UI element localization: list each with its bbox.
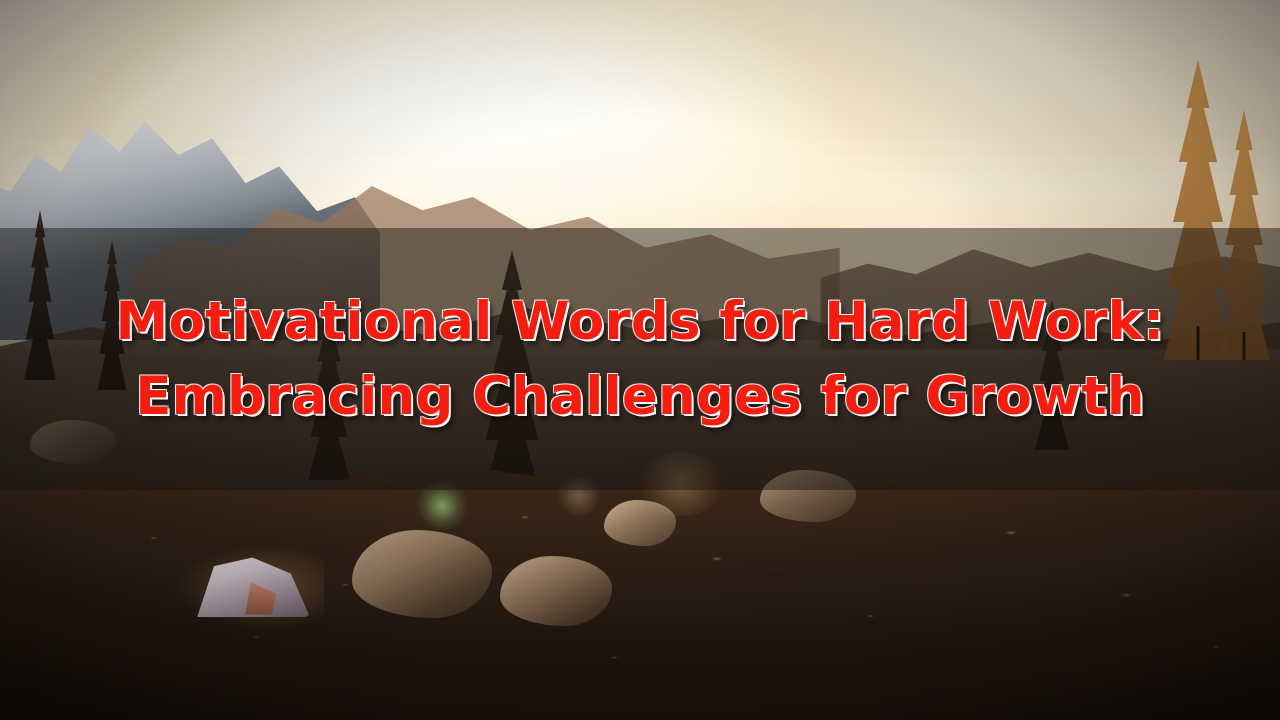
title-overlay-band: Motivational Words for Hard Work: Embrac… [0,228,1280,490]
image-canvas: Motivational Words for Hard Work: Embrac… [0,0,1280,720]
title-line-2: Embracing Challenges for Growth [116,359,1165,434]
page-title: Motivational Words for Hard Work: Embrac… [116,284,1165,435]
title-line-1: Motivational Words for Hard Work: [116,291,1165,352]
